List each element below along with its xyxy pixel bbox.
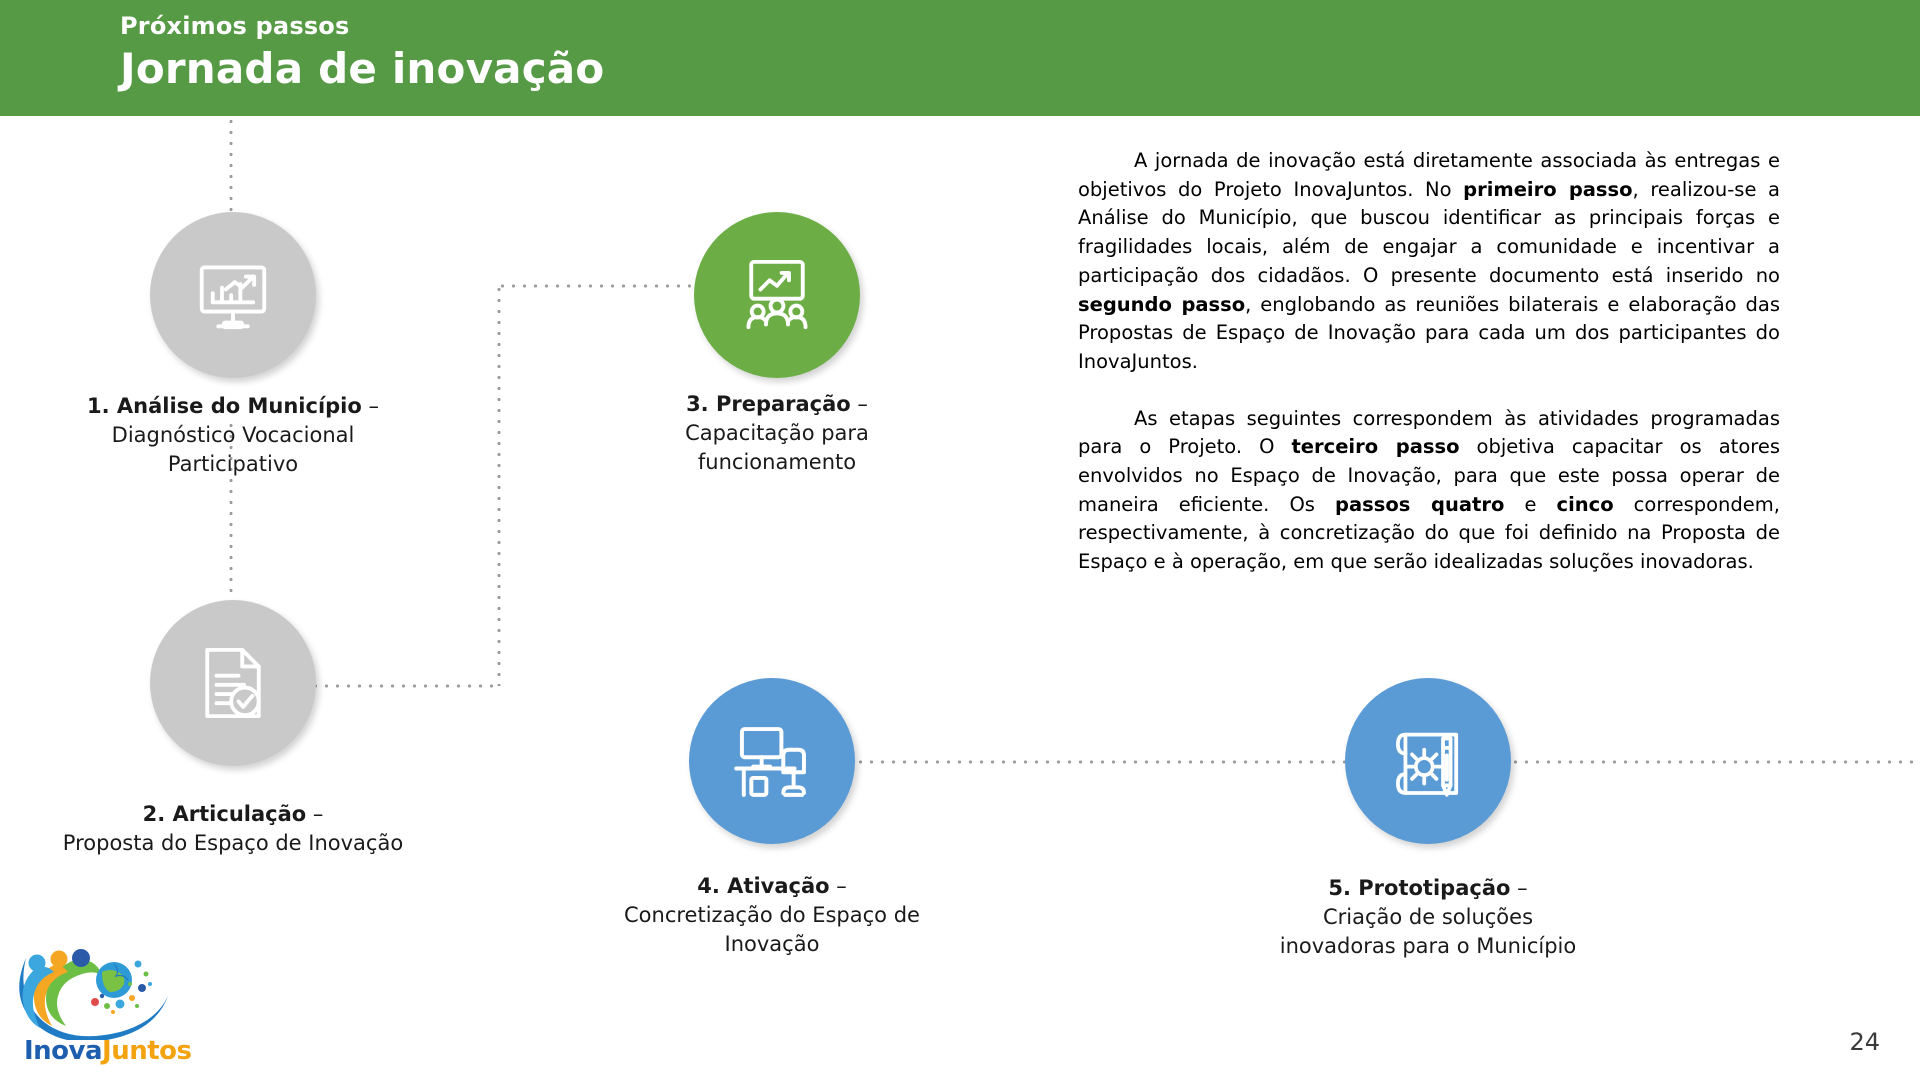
step-1-title: 1. Análise do Município: [87, 394, 362, 418]
connector-header-to-step1: [229, 116, 233, 220]
step-3-dash: –: [851, 392, 868, 416]
step-2-subtitle-line1: Proposta do Espaço de Inovação: [23, 829, 443, 858]
step-4-circle[interactable]: [689, 678, 855, 844]
step-4-dash: –: [830, 874, 847, 898]
step-3-title: 3. Preparação: [686, 392, 851, 416]
connector-step4-to-step5: [855, 760, 1345, 764]
step-5-dash: –: [1510, 876, 1527, 900]
step-1-dash: –: [362, 394, 379, 418]
step-2-caption: 2. Articulação – Proposta do Espaço de I…: [23, 800, 443, 858]
step-4-subtitle-line1: Concretização do Espaço de: [572, 901, 972, 930]
step-5-subtitle-line1: Criação de soluções: [1228, 903, 1628, 932]
slide-canvas: Próximos passos Jornada de inovação: [0, 0, 1920, 1080]
workstation-desk-icon: [725, 714, 819, 808]
header-kicker: Próximos passos: [120, 12, 349, 41]
step-5-title: 5. Prototipação: [1328, 876, 1510, 900]
step-2-dash: –: [306, 802, 323, 826]
p2-bold-terceiro-passo: terceiro passo: [1291, 435, 1459, 458]
p2-bold-cinco: cinco: [1557, 493, 1614, 516]
step-2-circle[interactable]: [150, 600, 316, 766]
logo-mark-icon: [10, 940, 180, 1040]
step-5-caption: 5. Prototipação – Criação de soluções in…: [1228, 874, 1628, 961]
step-5-circle[interactable]: [1345, 678, 1511, 844]
logo-word-juntos: Juntos: [102, 1036, 191, 1066]
presentation-people-icon: [731, 249, 823, 341]
step-1-circle[interactable]: [150, 212, 316, 378]
paragraph-1: A jornada de inovação está diretamente a…: [1078, 147, 1780, 377]
step-1-subtitle-line1: Diagnóstico Vocacional: [33, 421, 433, 450]
step-3-caption: 3. Preparação – Capacitação para funcion…: [617, 390, 937, 477]
step-4-subtitle-line2: Inovação: [572, 930, 972, 959]
slide-header: Próximos passos Jornada de inovação: [0, 0, 1920, 116]
body-text-block: A jornada de inovação está diretamente a…: [1078, 147, 1780, 577]
p2-part3: e: [1504, 493, 1556, 516]
paragraph-2: As etapas seguintes correspondem às ativ…: [1078, 405, 1780, 577]
step-3-subtitle-line1: Capacitação para: [617, 419, 937, 448]
step-5-subtitle-line2: inovadoras para o Município: [1228, 932, 1628, 961]
blueprint-gear-pencil-icon: [1381, 714, 1475, 808]
inovajuntos-logo: InovaJuntos: [10, 940, 180, 1072]
step-2-title: 2. Articulação: [143, 802, 307, 826]
connector-step2-to-elbow: [310, 684, 500, 688]
monitor-chart-icon: [187, 249, 279, 341]
step-1-caption: 1. Análise do Município – Diagnóstico Vo…: [33, 392, 433, 479]
p2-bold-passos-quatro: passos quatro: [1335, 493, 1504, 516]
document-check-icon: [187, 637, 279, 729]
connector-elbow-vertical: [497, 284, 501, 686]
step-4-title: 4. Ativação: [697, 874, 829, 898]
step-3-subtitle-line2: funcionamento: [617, 448, 937, 477]
page-number: 24: [1849, 1028, 1880, 1056]
step-4-caption: 4. Ativação – Concretização do Espaço de…: [572, 872, 972, 959]
p1-bold-primeiro-passo: primeiro passo: [1463, 178, 1632, 201]
logo-wordmark: InovaJuntos: [24, 1036, 192, 1066]
connector-elbow-to-step3: [497, 284, 694, 288]
step-3-circle[interactable]: [694, 212, 860, 378]
p1-bold-segundo-passo: segundo passo: [1078, 293, 1245, 316]
connector-step5-to-edge: [1510, 760, 1920, 764]
page-title: Jornada de inovação: [120, 44, 604, 94]
step-1-subtitle-line2: Participativo: [33, 450, 433, 479]
logo-word-inova: Inova: [24, 1036, 102, 1066]
